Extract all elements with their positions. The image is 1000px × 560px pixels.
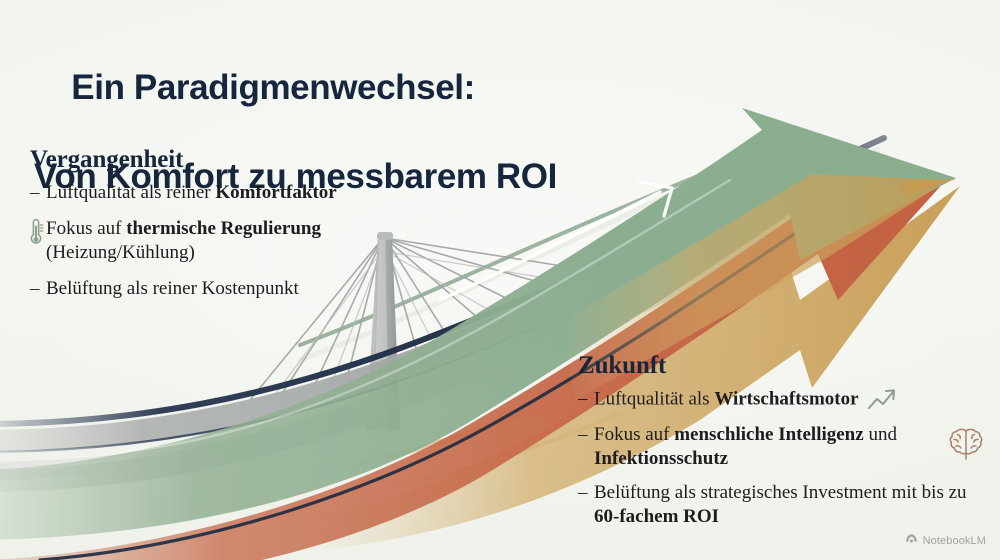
- past-heading: Vergangenheit: [30, 146, 410, 174]
- bullet-dash: –: [30, 277, 46, 301]
- future-heading: Zukunft: [578, 352, 978, 380]
- bullet-text-part: Fokus auf: [594, 424, 674, 445]
- list-item: – Luftqualität als reiner Komfortfaktor: [30, 181, 410, 205]
- bullet-text-part-strong: Infektionsschutz: [594, 448, 728, 469]
- bullet-text: Luftqualität als Wirtschaftsmotor: [594, 387, 978, 413]
- bullet-text-part: und: [864, 424, 897, 445]
- bullet-text-part: Fokus auf: [46, 218, 126, 239]
- bullet-text-part: (Heizung/Kühlung): [46, 242, 195, 263]
- bullet-text-part: Luftqualität als reiner: [46, 182, 215, 203]
- bullet-dash: –: [30, 181, 46, 205]
- bullet-text-part-strong: thermische Regulierung: [126, 218, 321, 239]
- bullet-text-part-strong: Komfortfaktor: [215, 182, 336, 203]
- bullet-text: Fokus auf menschliche Intelligenz und In…: [594, 423, 932, 471]
- past-bullet-list: – Luftqualität als reiner Komfortfaktor: [30, 181, 410, 302]
- bullet-text: Luftqualität als reiner Komfortfaktor: [46, 181, 410, 205]
- list-item: – Luftqualität als Wirtschaftsmotor: [578, 387, 978, 413]
- bullet-text: Belüftung als strategisches Investment m…: [594, 481, 978, 529]
- future-bullet-list: – Luftqualität als Wirtschaftsmotor – Fo…: [578, 387, 978, 530]
- list-item: – Belüftung als reiner Kostenpunkt: [30, 277, 410, 301]
- past-column: Vergangenheit – Luftqualität als reiner …: [30, 146, 410, 314]
- brain-icon: [946, 425, 986, 470]
- bullet-dash: –: [578, 481, 594, 505]
- bullet-text-part: Belüftung als strategisches Investment m…: [594, 482, 967, 503]
- slide-canvas: Ein Paradigmenwechsel: Von Komfort zu me…: [0, 0, 1000, 560]
- bullet-dash: –: [578, 423, 594, 447]
- watermark-label: NotebookLM: [923, 535, 986, 547]
- bullet-text-part-strong: Wirtschaftsmotor: [714, 388, 858, 409]
- bullet-text-part-strong: menschliche Intelligenz: [674, 424, 863, 445]
- notebooklm-logo-icon: [905, 532, 918, 550]
- bullet-dash: –: [578, 387, 594, 411]
- page-title-line-1: Ein Paradigmenwechsel:: [71, 68, 475, 107]
- trending-up-icon: [866, 387, 900, 413]
- list-item: Fokus auf thermische Regulierung (Heizun…: [30, 217, 410, 265]
- bullet-text-part: Luftqualität als: [594, 388, 714, 409]
- bullet-text: Fokus auf thermische Regulierung (Heizun…: [46, 217, 410, 265]
- bullet-text: Belüftung als reiner Kostenpunkt: [46, 277, 410, 301]
- bullet-text-part-strong: 60-fachem ROI: [594, 506, 719, 527]
- future-column: Zukunft – Luftqualität als Wirtschaftsmo…: [578, 352, 978, 540]
- list-item: – Belüftung als strategisches Investment…: [578, 481, 978, 529]
- list-item: – Fokus auf menschliche Intelligenz und …: [578, 423, 978, 471]
- watermark: NotebookLM: [905, 532, 986, 550]
- thermometer-icon: [26, 218, 46, 248]
